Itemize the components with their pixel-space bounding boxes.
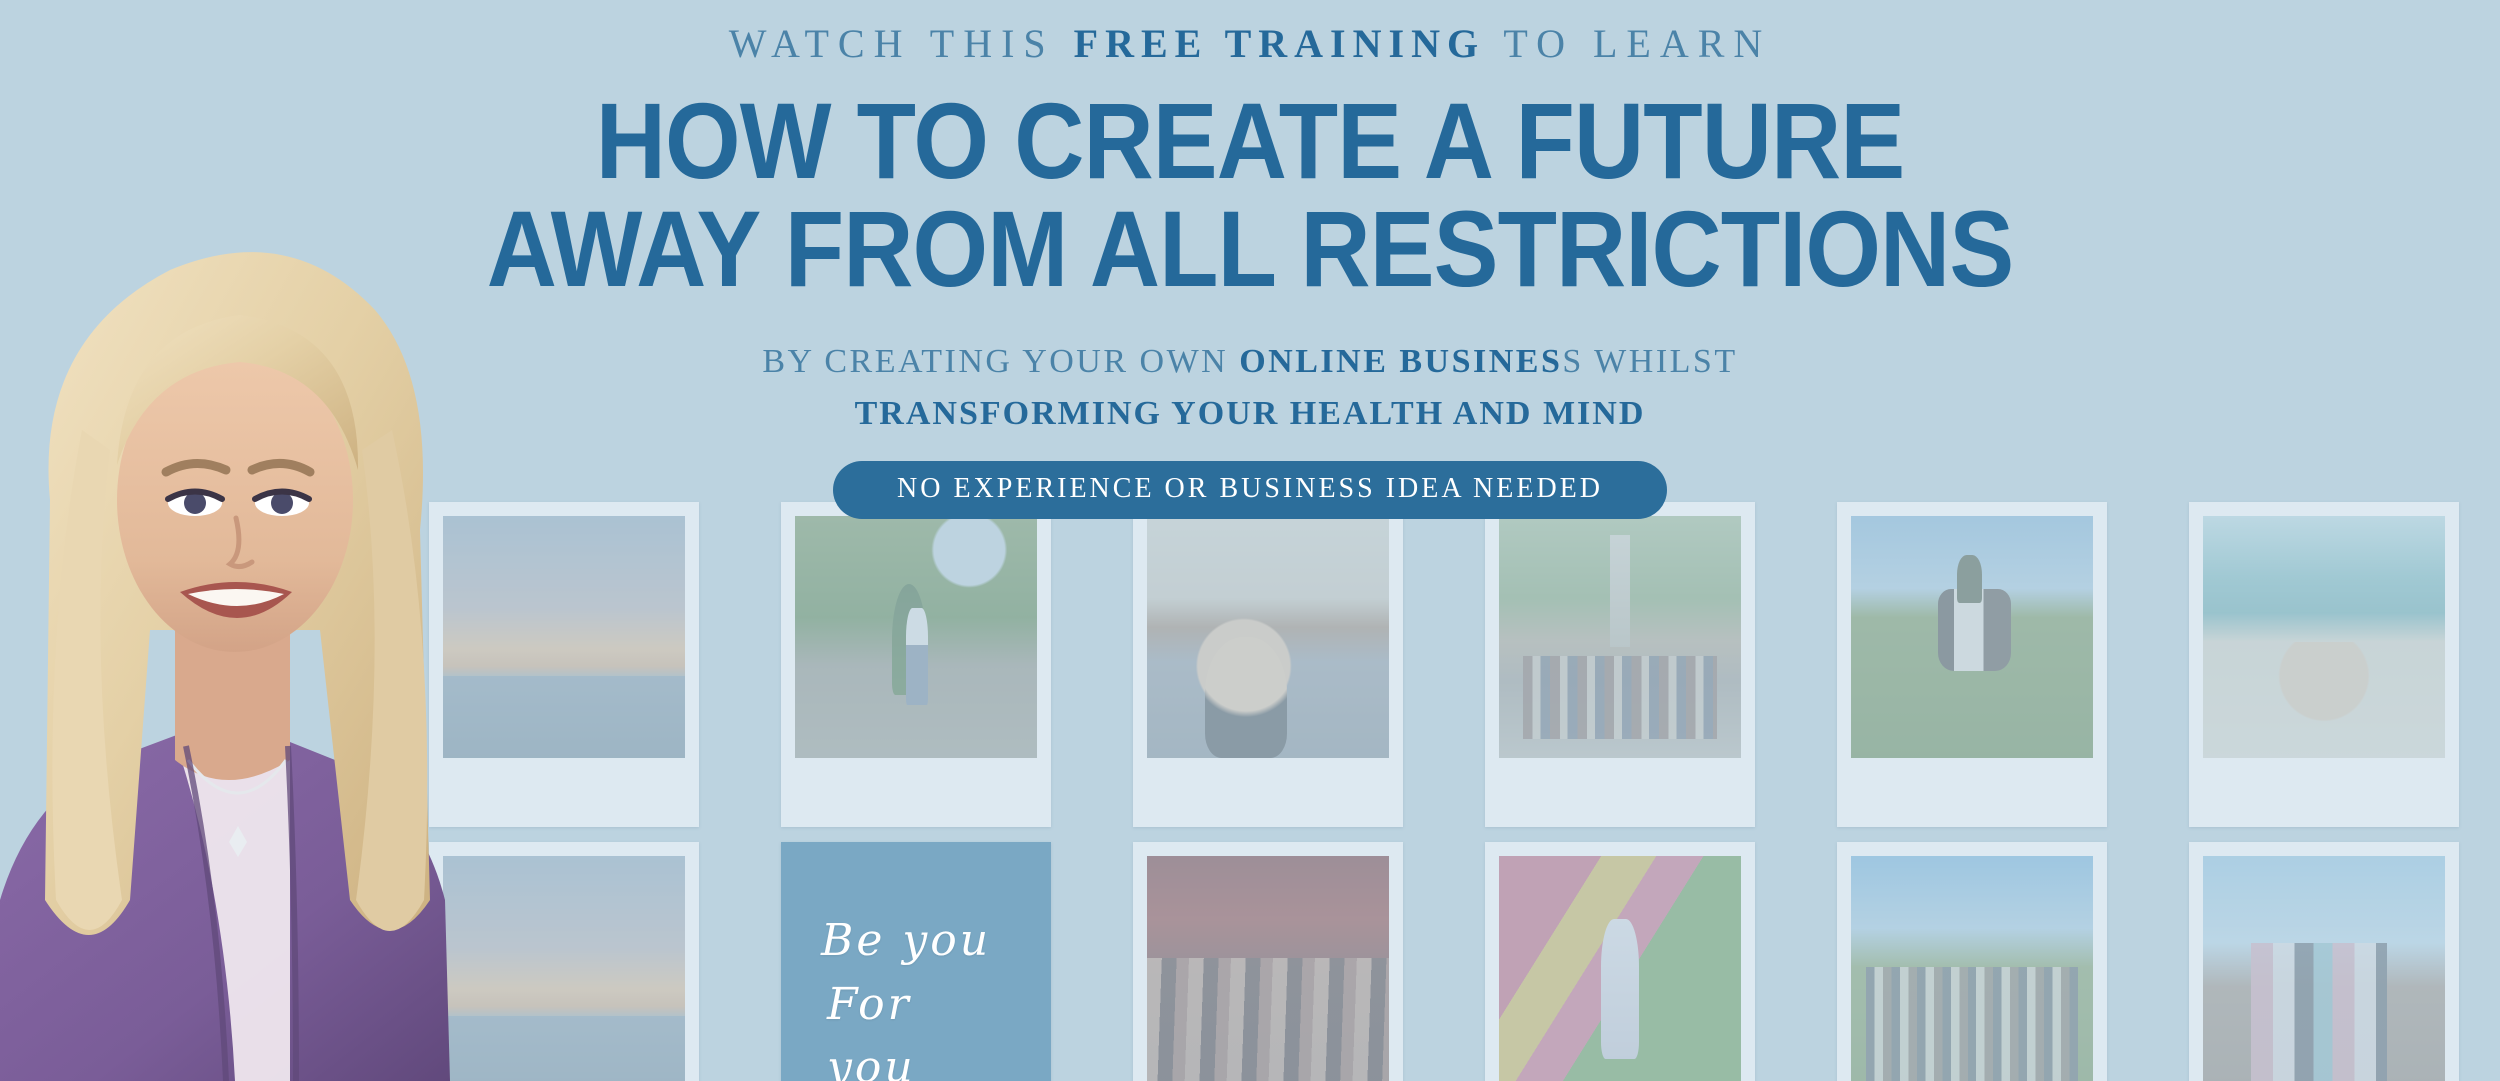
quote-line-1: Be you: [821, 909, 1011, 973]
quote-card-be-you[interactable]: Be you For you: [781, 842, 1051, 1081]
quote-line-2: For you: [821, 973, 1011, 1081]
photo-sunset-seafront: [443, 516, 685, 758]
polaroid-photo-group-monument[interactable]: [1485, 502, 1755, 827]
polaroid-photo-woman-fairy-garden[interactable]: [781, 502, 1051, 827]
subline1-strong: ONLINE BUSINES: [1239, 343, 1562, 380]
eyebrow-before: WATCH THIS: [729, 21, 1074, 66]
polaroid-photo-concert-crowd[interactable]: [1133, 842, 1403, 1081]
hero-section: Be you For you WATCH THIS FREE TRAINING: [0, 0, 2500, 1081]
subtitle-line-1: BY CREATING YOUR OWN ONLINE BUSINESS WHI…: [0, 339, 2500, 385]
eyebrow-after: TO LEARN: [1485, 21, 1771, 66]
photo-woman-fairy-garden: [795, 516, 1037, 758]
photo-sunset-orange: [443, 856, 685, 1081]
subline1-after: S WHILST: [1562, 343, 1737, 380]
subline1-before: BY CREATING YOUR OWN: [762, 343, 1239, 380]
page-title-line-2: AWAY FROM ALL RESTRICTIONS: [125, 198, 2375, 300]
polaroid-photo-group-outdoors[interactable]: [1837, 842, 2107, 1081]
polaroid-photo-selfie-indoor[interactable]: [1133, 502, 1403, 827]
photo-concert-crowd: [1147, 856, 1389, 1081]
badge-container: NO EXPERIENCE OR BUSINESS IDEA NEEDED: [0, 461, 2500, 519]
polaroid-photo-horse-riding[interactable]: [1837, 502, 2107, 827]
polaroid-photo-child-flower-garden[interactable]: [1485, 842, 1755, 1081]
polaroid-photo-sunset-orange[interactable]: [429, 842, 699, 1081]
page-title-line-1: HOW TO CREATE A FUTURE: [125, 90, 2375, 192]
photo-family-portrait: [2203, 856, 2445, 1081]
subtitle-line-2: TRANSFORMING YOUR HEALTH AND MIND: [0, 391, 2500, 437]
eyebrow-text: WATCH THIS FREE TRAINING TO LEARN: [0, 22, 2500, 66]
polaroid-photo-family-portrait[interactable]: [2189, 842, 2459, 1081]
photo-gallery-grid: Be you For you: [388, 500, 2500, 1081]
polaroid-photo-sunset-seafront[interactable]: [429, 502, 699, 827]
photo-child-flower-garden: [1499, 856, 1741, 1081]
photo-beach-sunglasses-selfie: [2203, 516, 2445, 758]
photo-selfie-indoor: [1147, 516, 1389, 758]
photo-horse-riding: [1851, 516, 2093, 758]
polaroid-photo-beach-sunglasses-selfie[interactable]: [2189, 502, 2459, 827]
hero-copy: WATCH THIS FREE TRAINING TO LEARN HOW TO…: [0, 0, 2500, 519]
status-badge: NO EXPERIENCE OR BUSINESS IDEA NEEDED: [833, 461, 1667, 519]
eyebrow-strong: FREE TRAINING: [1074, 21, 1485, 66]
photo-group-outdoors: [1851, 856, 2093, 1081]
photo-group-monument: [1499, 516, 1741, 758]
